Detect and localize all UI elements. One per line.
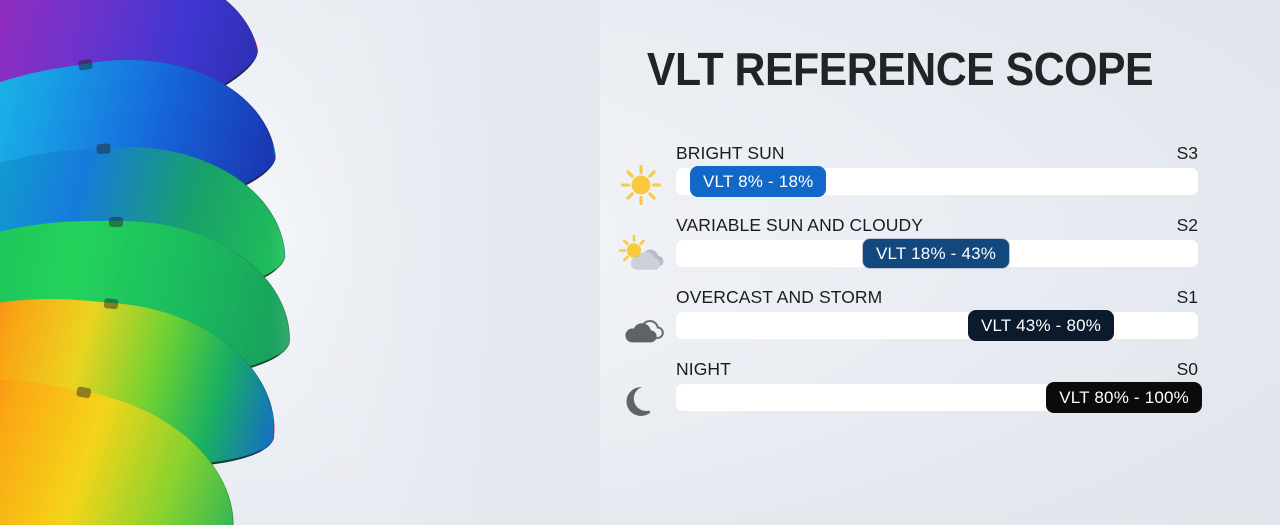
legend-category-s1: S1 (1177, 287, 1200, 308)
vlt-track-s2: VLT 18% - 43% (676, 240, 1198, 267)
legend-row-header-s3: BRIGHT SUN S3 (676, 142, 1200, 164)
legend-category-s3: S3 (1177, 143, 1200, 164)
vlt-track-s3: VLT 8% - 18% (676, 168, 1198, 195)
vlt-range-pill-s1: VLT 43% - 80% (968, 310, 1114, 341)
legend-row-header-s2: VARIABLE SUN AND CLOUDY S2 (676, 214, 1200, 236)
legend-row-s0: NIGHT S0 VLT 80% - 100% (600, 358, 1200, 430)
vlt-range-pill-s0: VLT 80% - 100% (1046, 382, 1202, 413)
sun-icon (614, 160, 668, 210)
vlt-range-pill-s2: VLT 18% - 43% (862, 238, 1010, 269)
vlt-reference-scope-banner: VLT REFERENCE SCOPE (0, 0, 1280, 525)
page-title: VLT REFERENCE SCOPE (621, 42, 1179, 96)
vlt-info-panel: VLT REFERENCE SCOPE (600, 0, 1280, 525)
legend-row-s3: BRIGHT SUN S3 VLT 8% - 18% (600, 142, 1200, 214)
moon-icon (614, 376, 668, 426)
vlt-track-s0: VLT 80% - 100% (676, 384, 1198, 411)
legend-label-s1: OVERCAST AND STORM (676, 287, 882, 308)
legend-row-header-s1: OVERCAST AND STORM S1 (676, 286, 1200, 308)
legend-row-s1: OVERCAST AND STORM S1 VLT 43% - 80% (600, 286, 1200, 358)
legend-category-s2: S2 (1177, 215, 1200, 236)
artwork-fade-overlay (270, 0, 600, 525)
legend-row-s2: VARIABLE SUN AND CLOUDY S2 VLT 18% - 43% (600, 214, 1200, 286)
legend-label-s3: BRIGHT SUN (676, 143, 785, 164)
vlt-track-s1: VLT 43% - 80% (676, 312, 1198, 339)
legend-row-header-s0: NIGHT S0 (676, 358, 1200, 380)
legend-category-s0: S0 (1177, 359, 1200, 380)
cloud-icon (614, 304, 668, 354)
vlt-legend-list: BRIGHT SUN S3 VLT 8% - 18% (600, 142, 1200, 430)
legend-label-s2: VARIABLE SUN AND CLOUDY (676, 215, 923, 236)
vlt-range-pill-s3: VLT 8% - 18% (690, 166, 826, 197)
legend-label-s0: NIGHT (676, 359, 731, 380)
partly-cloudy-icon (614, 232, 668, 282)
